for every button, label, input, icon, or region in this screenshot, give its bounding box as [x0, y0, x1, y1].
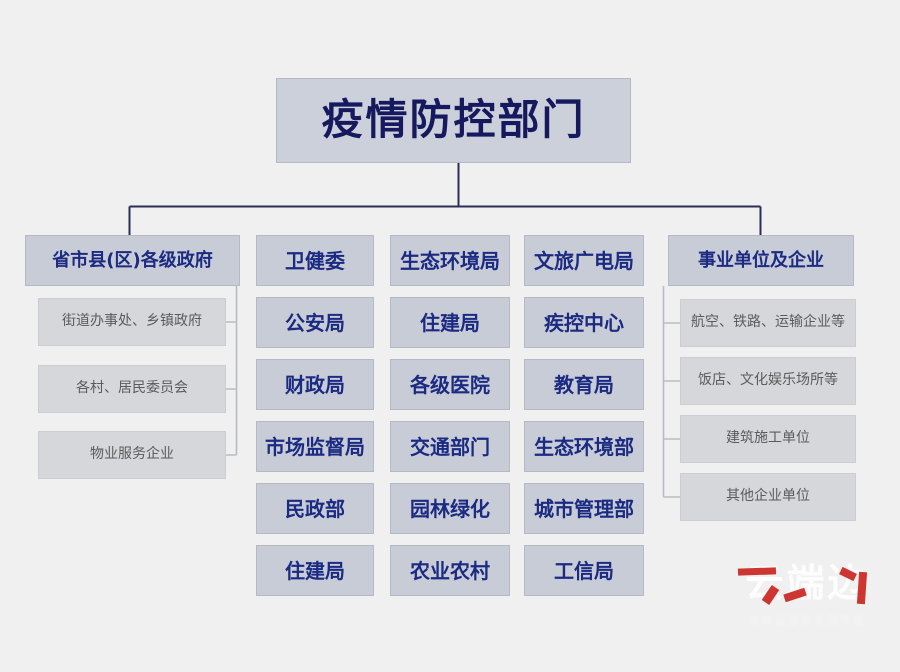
- sub-item[interactable]: 其他企业单位: [680, 473, 856, 521]
- dept-node[interactable]: 住建局: [390, 297, 510, 348]
- sub-item[interactable]: 物业服务企业: [38, 431, 226, 479]
- column-header-2[interactable]: 卫健委: [256, 235, 374, 286]
- column-header-4[interactable]: 文旅广电局: [524, 235, 644, 286]
- dept-node[interactable]: 住建局: [256, 545, 374, 596]
- org-chart: 疫情防控部门 省市县(区)各级政府 街道办事处、乡镇政府 各村、居民委员会 物业…: [0, 0, 900, 672]
- dept-node[interactable]: 市场监督局: [256, 421, 374, 472]
- dept-node[interactable]: 城市管理部: [524, 483, 644, 534]
- column-header-government[interactable]: 省市县(区)各级政府: [25, 235, 240, 286]
- sub-item[interactable]: 各村、居民委员会: [38, 365, 226, 413]
- sub-item[interactable]: 饭店、文化娱乐场所等: [680, 357, 856, 405]
- watermark-accent-stroke: [857, 572, 867, 604]
- dept-node[interactable]: 公安局: [256, 297, 374, 348]
- dept-node[interactable]: 民政部: [256, 483, 374, 534]
- column-header-enterprise[interactable]: 事业单位及企业: [668, 235, 854, 286]
- column-header-3[interactable]: 生态环境局: [390, 235, 510, 286]
- watermark-tagline: 全球云服务资源导航: [732, 612, 882, 628]
- watermark-accent-stroke: [783, 588, 806, 602]
- watermark-accent-stroke: [738, 567, 776, 575]
- watermark-logo: 云端边 全球云服务资源导航: [732, 558, 882, 636]
- watermark-accent-stroke: [762, 585, 780, 605]
- dept-node[interactable]: 疾控中心: [524, 297, 644, 348]
- dept-node[interactable]: 各级医院: [390, 359, 510, 410]
- watermark-accent-stroke: [839, 567, 857, 581]
- dept-node[interactable]: 财政局: [256, 359, 374, 410]
- sub-item[interactable]: 航空、铁路、运输企业等: [680, 299, 856, 347]
- dept-node[interactable]: 工信局: [524, 545, 644, 596]
- dept-node[interactable]: 生态环境部: [524, 421, 644, 472]
- dept-node[interactable]: 农业农村: [390, 545, 510, 596]
- root-node[interactable]: 疫情防控部门: [276, 78, 631, 163]
- dept-node[interactable]: 教育局: [524, 359, 644, 410]
- sub-item[interactable]: 建筑施工单位: [680, 415, 856, 463]
- watermark-brand: 云端边: [732, 558, 882, 608]
- dept-node[interactable]: 园林绿化: [390, 483, 510, 534]
- sub-item[interactable]: 街道办事处、乡镇政府: [38, 298, 226, 346]
- dept-node[interactable]: 交通部门: [390, 421, 510, 472]
